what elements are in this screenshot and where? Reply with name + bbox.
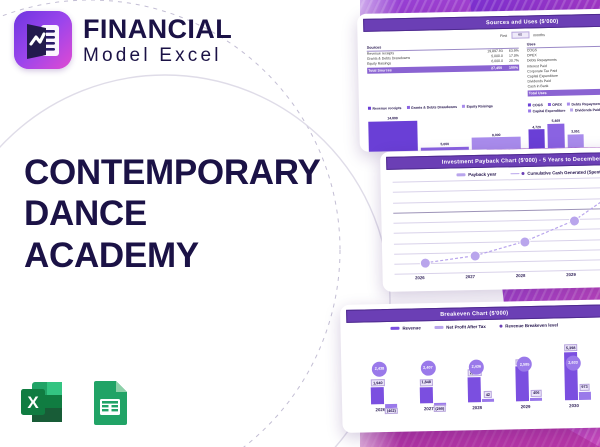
legend-item: Capital Expenditure <box>528 109 565 114</box>
uses-bar-chart: 4,7205,4693,9511,268603282-5,089 <box>528 113 600 152</box>
control-label-right: months <box>533 33 545 37</box>
sources-bar-chart: 14,8995,0008,000 <box>368 111 521 152</box>
legend-item: Grants & Debts Drawdowns <box>406 105 457 110</box>
bar-column: 1,268 <box>586 115 600 152</box>
npat-value-label: 42 <box>484 391 492 398</box>
x-axis-tick: 2028 <box>495 273 545 279</box>
source-row-value: 5,000.0 <box>481 54 503 58</box>
uses-total-label: Total Uses <box>528 89 600 95</box>
legend-swatch <box>462 105 465 108</box>
breakeven-bubble: 2,633 <box>565 355 580 370</box>
sources-total-label: Total Sources <box>367 67 480 73</box>
legend-item: OPEX <box>548 103 562 107</box>
source-row-pct: 17.0% <box>503 54 519 58</box>
legend-dot-breakeven <box>500 325 503 328</box>
x-axis-tick: 2029 <box>546 272 596 278</box>
breakeven-bubble: 2,407 <box>420 360 435 375</box>
payback-title: Investment Payback Chart ($'000) - 5 Yea… <box>386 151 600 170</box>
legend-swatch <box>567 103 570 106</box>
months-input[interactable]: 60 <box>511 32 529 39</box>
legend-item: Equity Raisings <box>462 104 493 109</box>
source-row-value: 6,000.0 <box>481 59 503 63</box>
breakeven-bubble: 2,438 <box>372 361 387 376</box>
legend-label: Revenue receipts <box>372 106 401 111</box>
legend-swatch-npat <box>435 326 444 329</box>
bar-value-label: 14,899 <box>387 116 397 120</box>
legend-swatch-payback <box>457 173 466 176</box>
legend-breakeven-level: Revenue Breakeven level <box>500 323 558 329</box>
financial-model-logo-icon <box>14 11 72 69</box>
legend-label-revenue: Revenue <box>402 326 420 331</box>
legend-swatch <box>406 106 409 109</box>
payback-plot: 600400200-(200)(400)(600)(800)(1,000)(1,… <box>393 176 600 274</box>
source-row-pct: 63.9% <box>503 49 519 53</box>
brand-logo: FINANCIAL Model Excel <box>14 11 232 69</box>
legend-item: COGS <box>528 103 543 107</box>
poster-canvas: FINANCIAL Model Excel CONTEMPORARY DANCE… <box>0 0 600 447</box>
sources-uses-title: Sources and Uses ($'000) <box>363 12 600 32</box>
bar-value-label: 4,720 <box>532 125 541 129</box>
legend-label-breakeven: Revenue Breakeven level <box>505 323 558 329</box>
legend-dot-cumulative <box>522 172 525 175</box>
bar <box>368 121 417 152</box>
breakeven-plot: 1,940(462)2,4381,848(290)2,4072,819422,4… <box>355 330 598 405</box>
card-sources-and-uses[interactable]: Sources and Uses ($'000) First 60 months… <box>357 7 600 152</box>
card-breakeven[interactable]: Breakeven Chart ($'000) Revenue Net Prof… <box>340 299 600 433</box>
microsoft-excel-icon: X <box>18 378 66 426</box>
x-axis-tick: 2030 <box>550 403 599 409</box>
breakeven-title: Breakeven Chart ($'000) <box>346 305 600 324</box>
bar-value-label: 5,469 <box>552 119 561 123</box>
bar-column: 5,000 <box>420 112 470 152</box>
legend-swatch <box>570 109 573 112</box>
x-axis-tick: 2028 <box>453 405 502 411</box>
control-label-left: First <box>500 34 507 38</box>
uses-column: Uses COGS8,720.024.1%OPEX5,468.819.6%Deb… <box>527 39 600 96</box>
legend-label-npat: Net Profit After Tax <box>446 324 486 330</box>
legend-swatch <box>368 107 371 110</box>
bar-value-label: 3,951 <box>571 130 580 134</box>
legend-swatch-revenue <box>391 327 400 330</box>
legend-swatch <box>528 104 531 107</box>
card-investment-payback[interactable]: Investment Payback Chart ($'000) - 5 Yea… <box>380 146 600 292</box>
legend-item: Dividends Paid <box>570 108 600 113</box>
npat-bar <box>482 399 494 402</box>
npat-bar <box>530 397 542 401</box>
source-row-value: 19,897.93 <box>481 49 503 53</box>
sources-total-row: Total Sources 27,450 100% <box>367 65 519 74</box>
npat-value-label: (290) <box>433 405 446 412</box>
revenue-value-label: 1,848 <box>419 379 433 386</box>
sources-legend: Revenue receiptsGrants & Debts Drawdowns… <box>368 104 520 111</box>
file-format-icons: X <box>18 378 134 426</box>
legend-swatch-cumulative <box>510 173 519 175</box>
legend-label-payback: Payback year <box>468 172 496 178</box>
bar-column: 5,469 <box>548 116 565 152</box>
revenue-bar <box>419 387 432 404</box>
legend-label: Equity Raisings <box>467 104 493 109</box>
revenue-value-label: 1,940 <box>371 379 385 386</box>
legend-cumulative-cash: Cumulative Cash Generated (Spent) <box>510 170 600 177</box>
x-axis-tick: 2027 <box>445 274 495 280</box>
npat-value-label: 406 <box>531 390 541 397</box>
revenue-bar <box>468 377 482 402</box>
legend-item: Debts Repayments <box>567 102 600 107</box>
sources-column: Sources Revenue receipts19,897.9363.9%Gr… <box>367 43 520 100</box>
x-axis-tick: 2029 <box>501 404 550 410</box>
x-axis-tick: 2026 <box>395 275 445 281</box>
breakeven-bubble: 2,436 <box>469 359 484 374</box>
legend-label: Grants & Debts Drawdowns <box>411 105 457 110</box>
revenue-value-label: 5,398 <box>564 344 578 351</box>
legend-label-cumulative: Cumulative Cash Generated (Spent) <box>527 170 600 177</box>
npat-value-label: 973 <box>579 384 589 391</box>
legend-payback-year: Payback year <box>457 172 497 178</box>
x-axis-tick: 2030 <box>596 271 600 277</box>
legend-label: Debts Repayments <box>571 102 600 107</box>
legend-item: Revenue receipts <box>368 106 402 111</box>
brand-subtitle: Model Excel <box>83 46 232 65</box>
bar-column: 3,951 <box>567 115 584 152</box>
brand-title: FINANCIAL <box>83 16 232 43</box>
uses-legend: COGSOPEXDebts RepaymentsInterest PaidCor… <box>528 100 600 113</box>
sources-total-pct: 100% <box>502 66 519 70</box>
page-title: CONTEMPORARY DANCE ACADEMY <box>24 152 314 276</box>
legend-npat: Net Profit After Tax <box>435 324 486 330</box>
npat-value-label: (462) <box>385 407 398 414</box>
legend-label: OPEX <box>552 103 562 107</box>
legend-label: Capital Expenditure <box>533 109 566 114</box>
npat-bar <box>579 391 591 400</box>
source-row-pct: 20.7% <box>503 59 519 63</box>
breakeven-bubble: 2,585 <box>517 357 532 372</box>
legend-swatch <box>548 103 551 106</box>
google-sheets-icon <box>86 378 134 426</box>
bar-column: 4,720 <box>528 116 545 152</box>
legend-label: COGS <box>532 103 542 107</box>
legend-revenue: Revenue <box>391 326 421 332</box>
legend-swatch <box>528 110 531 113</box>
bar-column: 14,899 <box>368 113 418 152</box>
bar-value-label: 5,000 <box>440 142 449 146</box>
revenue-bar <box>371 387 384 405</box>
bar-column: 8,000 <box>471 111 521 152</box>
sources-total-value: 27,450 <box>480 66 502 70</box>
legend-label: Dividends Paid <box>575 108 600 113</box>
svg-text:X: X <box>27 393 39 412</box>
bar-value-label: 8,000 <box>492 133 501 137</box>
